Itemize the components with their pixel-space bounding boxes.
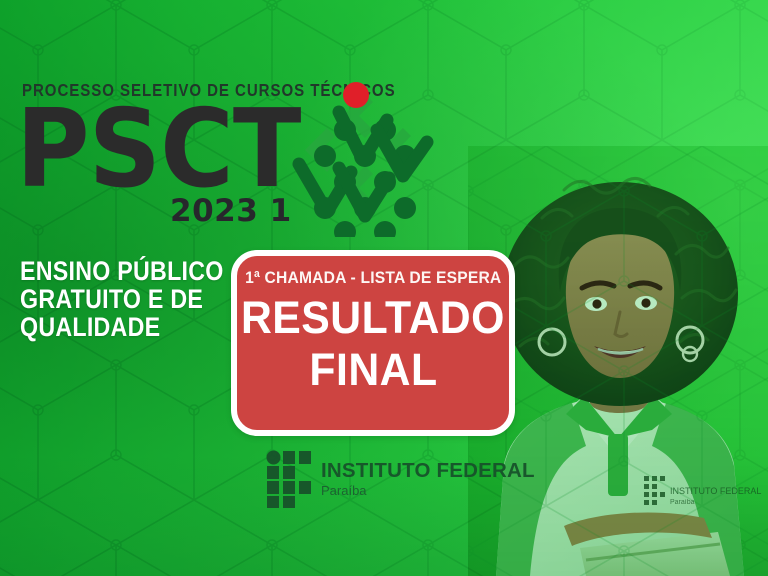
svg-text:Paraíba: Paraíba <box>670 499 695 506</box>
people-diamond-icon <box>287 72 447 237</box>
result-badge: 1ª CHAMADA - LISTA DE ESPERA RESULTADO F… <box>231 250 515 436</box>
ifpb-grid-mark-icon <box>266 450 312 508</box>
institution-campus: Paraíba <box>321 484 535 497</box>
slogan-line-3: QUALIDADE <box>20 314 224 342</box>
badge-title-line-2: FINAL <box>309 346 437 394</box>
psct-result-poster: INSTITUTO FEDERAL Paraíba <box>0 0 768 576</box>
slogan-line-1: ENSINO PÚBLICO <box>20 258 224 286</box>
badge-title-line-1: RESULTADO <box>241 294 505 342</box>
svg-text:INSTITUTO FEDERAL: INSTITUTO FEDERAL <box>670 486 761 496</box>
psct-year: 2023 1 <box>170 193 292 229</box>
slogan-line-2: GRATUITO E DE <box>20 286 224 314</box>
institution-name: INSTITUTO FEDERAL <box>321 461 535 482</box>
psct-wordmark: PSCT <box>16 96 300 204</box>
slogan: ENSINO PÚBLICO GRATUITO E DE QUALIDADE <box>20 258 224 341</box>
institution-logo: INSTITUTO FEDERAL Paraíba <box>266 450 535 508</box>
badge-subtitle: 1ª CHAMADA - LISTA DE ESPERA <box>245 268 501 288</box>
red-dot-icon <box>343 82 369 108</box>
